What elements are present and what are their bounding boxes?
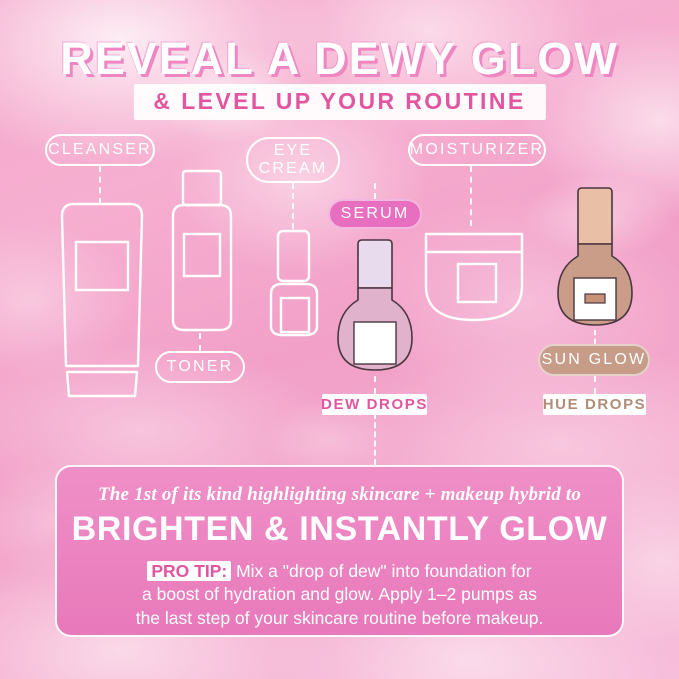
badge-moisturizer[interactable]: MOISTURIZER [408,134,546,166]
tag-hue-drops[interactable]: HUE DROPS [543,394,646,415]
connector-eye-cream [292,183,294,229]
badge-serum-label: SERUM [341,205,410,223]
connector-moisturizer [470,166,472,226]
badge-toner[interactable]: TONER [155,351,245,383]
card-body-line3: the last step of your skincare routine b… [136,608,544,628]
badge-cleanser[interactable]: CLEANSER [45,134,155,166]
badge-cleanser-label: CLEANSER [48,141,152,159]
card-headline: BRIGHTEN & INSTANTLY GLOW [72,510,608,549]
badge-toner-label: TONER [167,358,234,376]
badge-eye-cream[interactable]: EYE CREAM [246,137,340,183]
subtitle-banner: & LEVEL UP YOUR ROUTINE [133,84,545,120]
tag-dew-drops-label: DEW DROPS [321,396,428,413]
product-serum-dew-drops [334,238,416,383]
card-body-line2: a boost of hydration and glow. Apply 1–2… [142,584,537,604]
infographic-canvas: REVEAL A DEWY GLOW & LEVEL UP YOUR ROUTI… [0,0,679,679]
connector-hue-drops [594,376,596,394]
promo-card: The 1st of its kind highlighting skincar… [55,465,624,637]
page-subtitle: & LEVEL UP YOUR ROUTINE [153,88,525,115]
product-eye-cream [265,228,323,343]
badge-serum[interactable]: SERUM [328,199,422,229]
badge-sun-glow-label: SUN GLOW [542,351,647,369]
card-body: PRO TIP: Mix a "drop of dew" into founda… [80,560,600,630]
product-sun-glow-hue-drops [554,186,636,339]
tag-hue-drops-label: HUE DROPS [543,396,647,413]
tag-dew-drops[interactable]: DEW DROPS [322,394,427,415]
page-title: REVEAL A DEWY GLOW [0,33,679,85]
pro-tip-label: PRO TIP: [147,561,231,581]
card-tagline: The 1st of its kind highlighting skincar… [98,484,581,506]
badge-eye-cream-label-line2: CREAM [259,160,328,178]
badge-moisturizer-label: MOISTURIZER [410,141,544,159]
badge-eye-cream-label-line1: EYE [274,142,313,160]
connector-dew-drops-card [374,413,376,465]
card-body-line1: Mix a "drop of dew" into foundation for [236,561,532,581]
product-toner [163,168,241,341]
connector-cleanser [99,166,101,204]
product-moisturizer [422,228,526,333]
badge-sun-glow[interactable]: SUN GLOW [538,344,650,376]
product-cleanser [48,200,156,407]
